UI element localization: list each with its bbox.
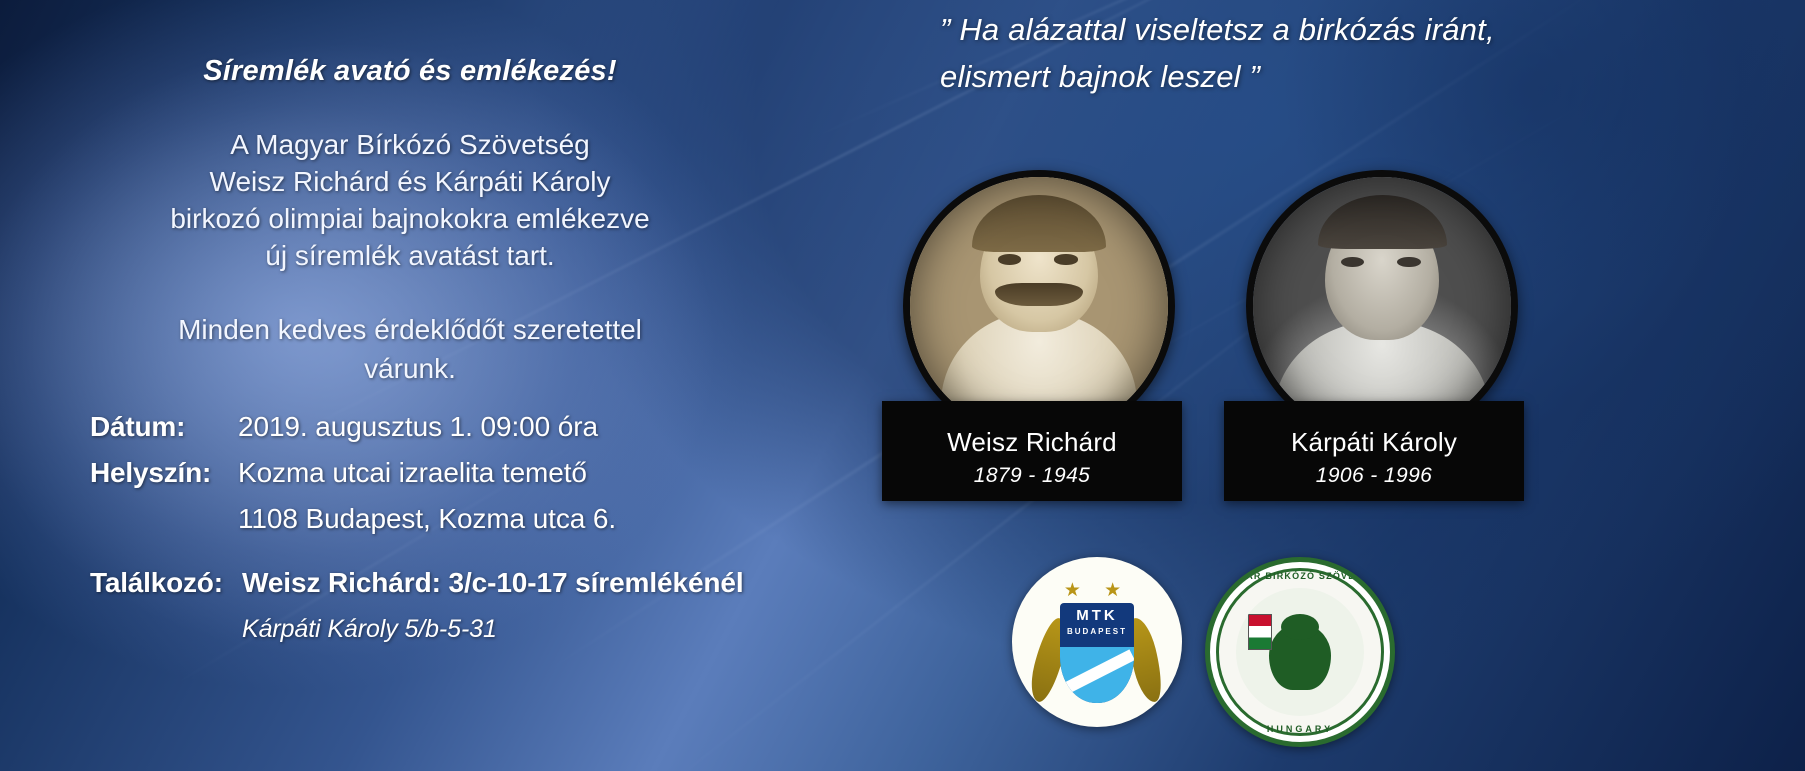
invitation-paragraph: Minden kedves érdeklődőt szeretettel vár… xyxy=(60,310,760,388)
portrait-vignette xyxy=(1253,177,1511,435)
detail-row-meeting: Találkozó: Weisz Richárd: 3/c-10-17 síre… xyxy=(90,564,850,602)
magyar-birkozo-szovetseg-logo: MAGYAR BIRKÓZÓ SZÖVETSÉG HUNGARY xyxy=(1205,557,1395,747)
portrait-vignette xyxy=(910,177,1168,435)
invite-line-1: Minden kedves érdeklődőt szeretettel xyxy=(60,310,760,349)
quote-line-1: ” Ha alázattal viseltetsz a birkózás irá… xyxy=(940,12,1495,47)
stars-icon: ★ ★ xyxy=(1012,579,1182,602)
poster-headline: Síremlék avató és emlékezés! xyxy=(60,55,760,88)
mtk-title: MTK xyxy=(1060,607,1134,624)
plaque-dates: 1879 - 1945 xyxy=(882,457,1182,489)
logo-inner-disc xyxy=(1236,588,1364,716)
event-details: Dátum: 2019. augusztus 1. 09:00 óra Hely… xyxy=(90,408,850,648)
intro-line-4: új síremlék avatást tart. xyxy=(60,237,760,274)
detail-row-date: Dátum: 2019. augusztus 1. 09:00 óra xyxy=(90,408,850,446)
detail-row-place: Helyszín: Kozma utcai izraelita temető xyxy=(90,454,850,492)
intro-line-2: Weisz Richárd és Kárpáti Károly xyxy=(60,163,760,200)
mtk-budapest-logo: ★ ★ MTK BUDAPEST xyxy=(1012,557,1182,727)
date-value: 2019. augusztus 1. 09:00 óra xyxy=(238,408,598,446)
place-label: Helyszín: xyxy=(90,457,238,489)
mbsz-arc-top: MAGYAR BIRKÓZÓ SZÖVETSÉG xyxy=(1210,571,1390,581)
intro-paragraph: A Magyar Bírkózó Szövetség Weisz Richárd… xyxy=(60,126,760,274)
meeting-value-line-1: Weisz Richárd: 3/c-10-17 síremlékénél xyxy=(242,564,744,602)
intro-line-1: A Magyar Bírkózó Szövetség xyxy=(60,126,760,163)
meeting-value-line-2: Kárpáti Károly 5/b-5-31 xyxy=(242,610,850,648)
name-plaque-karpati: Kárpáti Károly 1906 - 1996 xyxy=(1224,401,1524,501)
quote-block: ” Ha alázattal viseltetsz a birkózás irá… xyxy=(940,6,1790,100)
date-label: Dátum: xyxy=(90,411,238,443)
intro-line-3: birkozó olimpiai bajnokokra emlékezve xyxy=(60,200,760,237)
left-text-column: Síremlék avató és emlékezés! A Magyar Bí… xyxy=(60,0,820,771)
quote-line-2: elismert bajnok leszel ” xyxy=(940,53,1790,100)
mtk-subtitle: BUDAPEST xyxy=(1060,627,1134,636)
name-plaque-weisz: Weisz Richárd 1879 - 1945 xyxy=(882,401,1182,501)
plaque-dates: 1906 - 1996 xyxy=(1224,457,1524,489)
wrestler-icon xyxy=(1269,624,1331,690)
mbsz-arc-bottom: HUNGARY xyxy=(1210,724,1390,734)
invite-line-2: várunk. xyxy=(60,349,760,388)
hungarian-flag-icon xyxy=(1248,614,1272,650)
plaque-name: Kárpáti Károly xyxy=(1224,401,1524,457)
place-value-line-2: 1108 Budapest, Kozma utca 6. xyxy=(238,500,850,538)
poster-canvas: Síremlék avató és emlékezés! A Magyar Bí… xyxy=(0,0,1805,771)
place-value-line-1: Kozma utcai izraelita temető xyxy=(238,454,587,492)
meeting-label: Találkozó: xyxy=(90,567,242,599)
mtk-shield-icon: MTK BUDAPEST xyxy=(1060,603,1134,703)
plaque-name: Weisz Richárd xyxy=(882,401,1182,457)
